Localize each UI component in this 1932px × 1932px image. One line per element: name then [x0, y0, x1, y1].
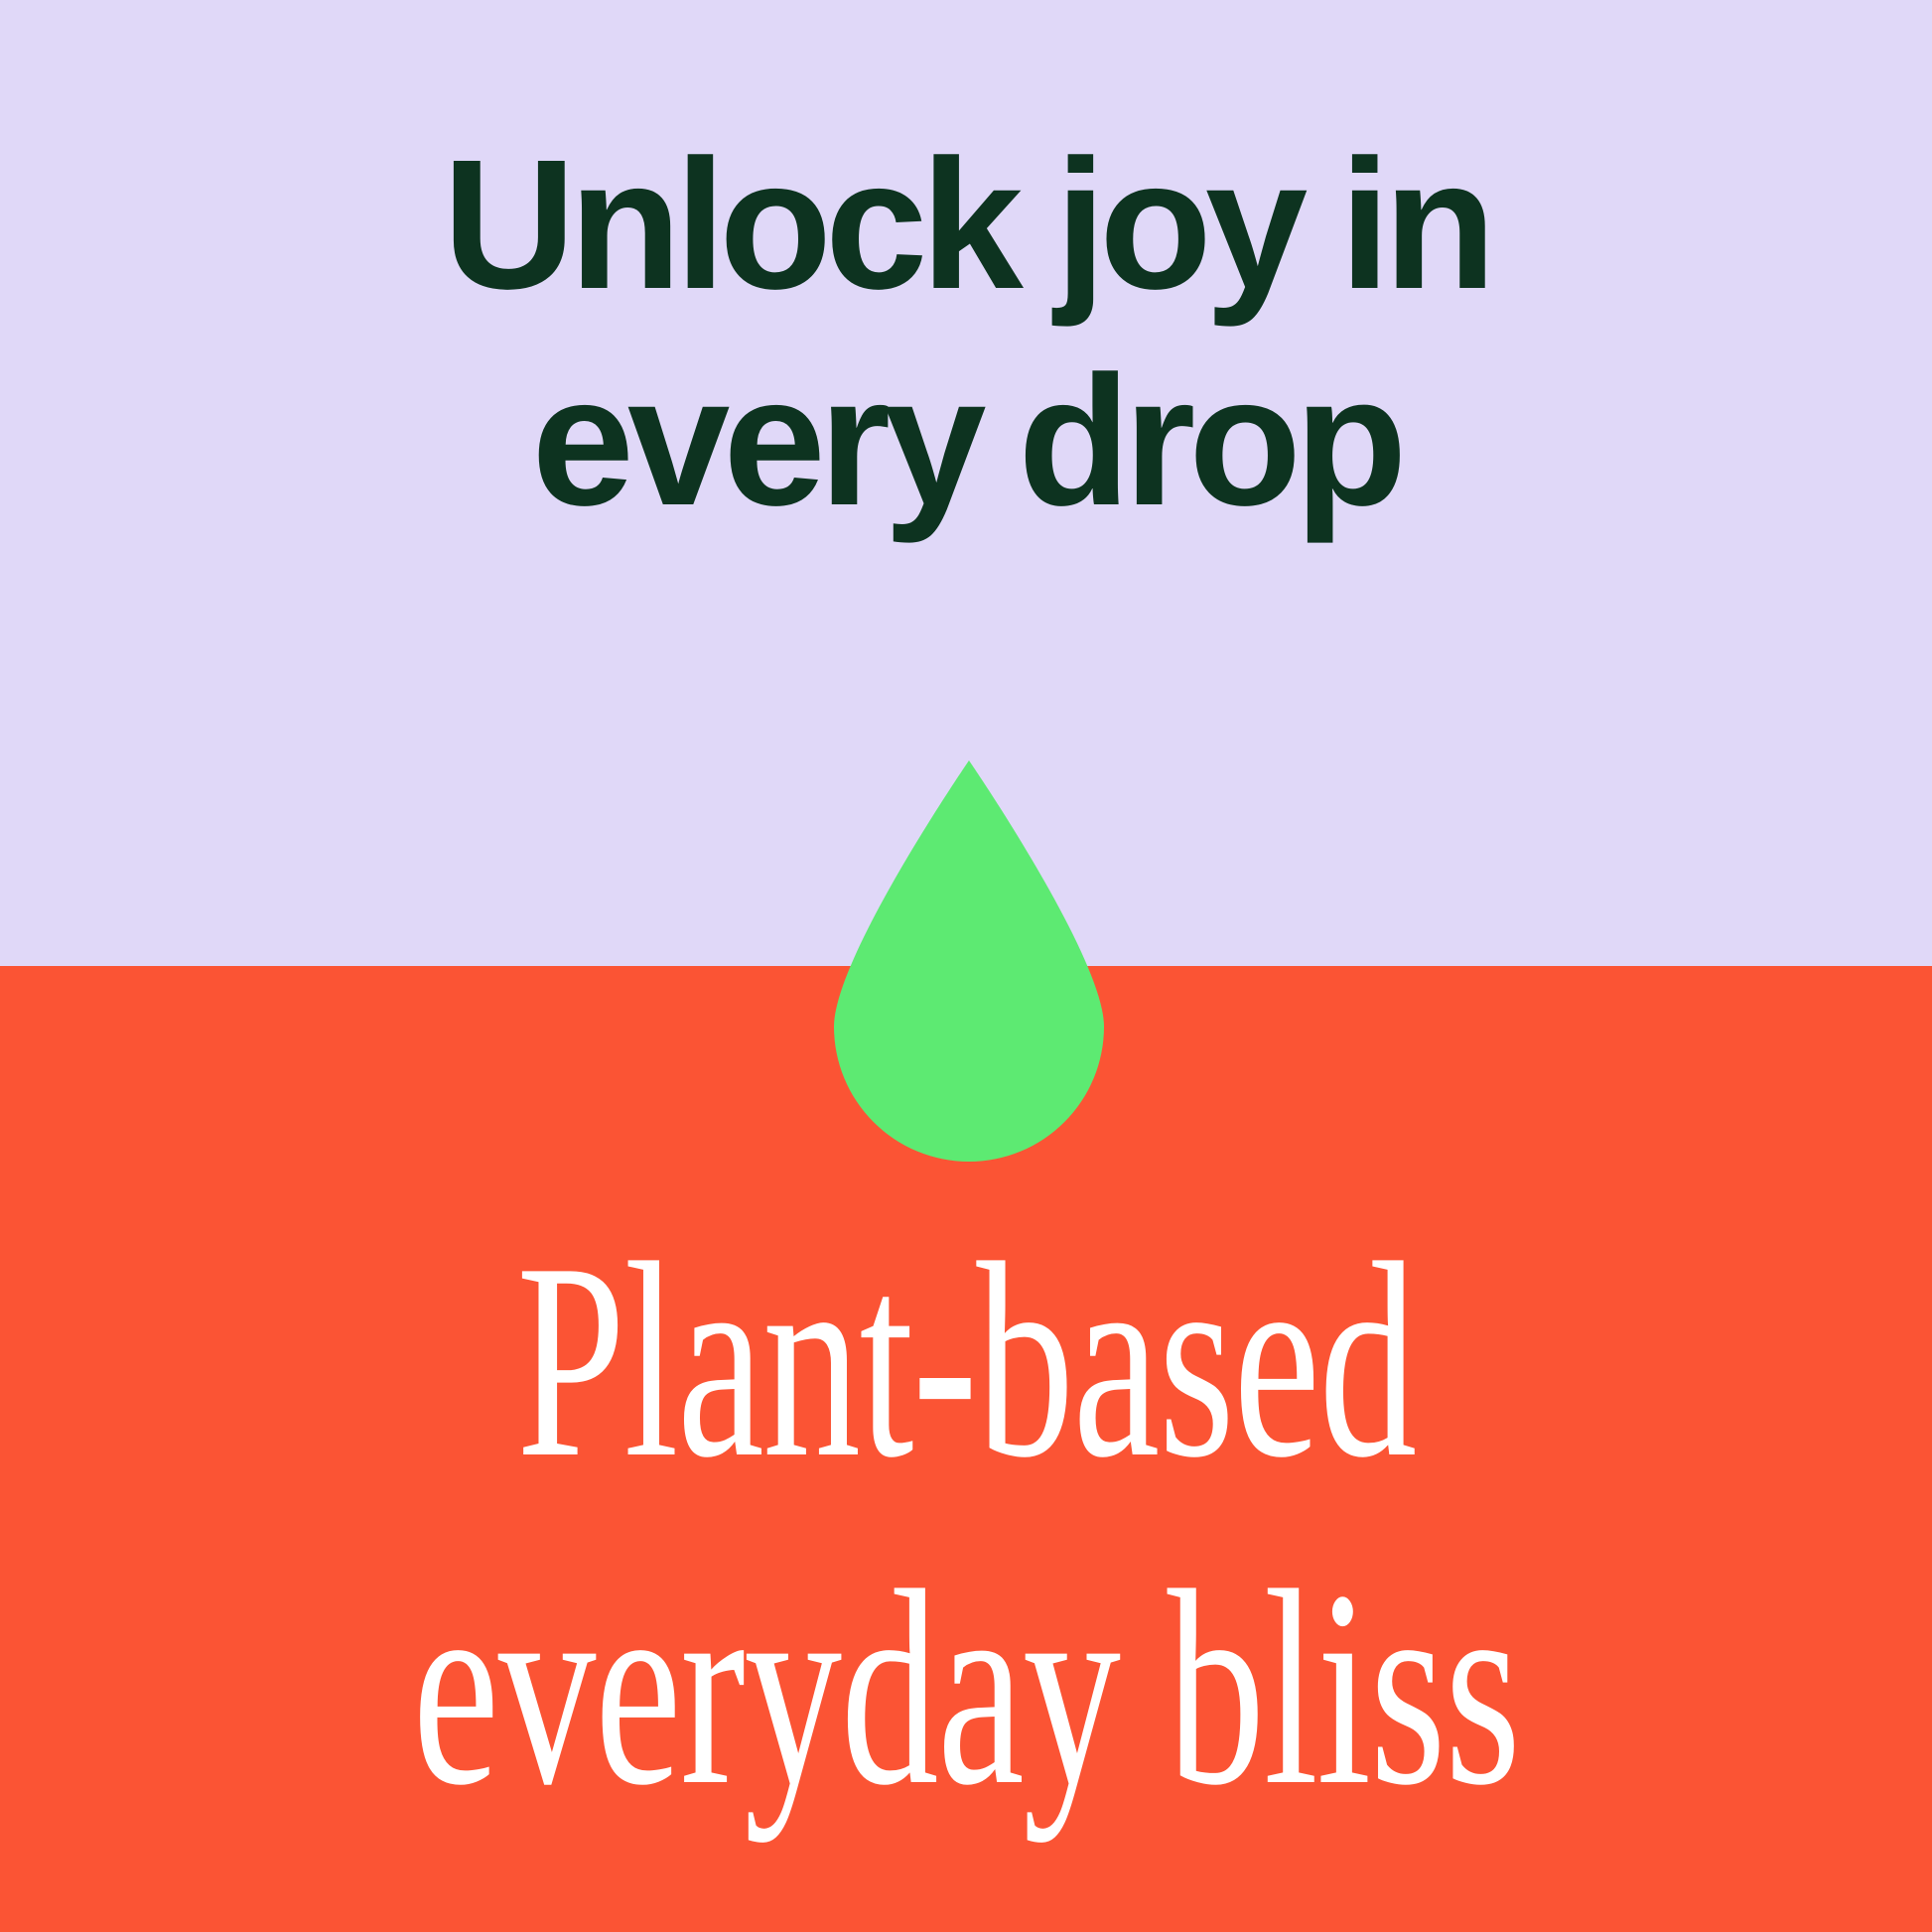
- subheading-text: Plant-based everyday bliss: [290, 1196, 1642, 1852]
- poster-canvas: Unlock joy in every drop Plant-based eve…: [0, 0, 1932, 1932]
- headline-text: Unlock joy in every drop: [0, 117, 1932, 550]
